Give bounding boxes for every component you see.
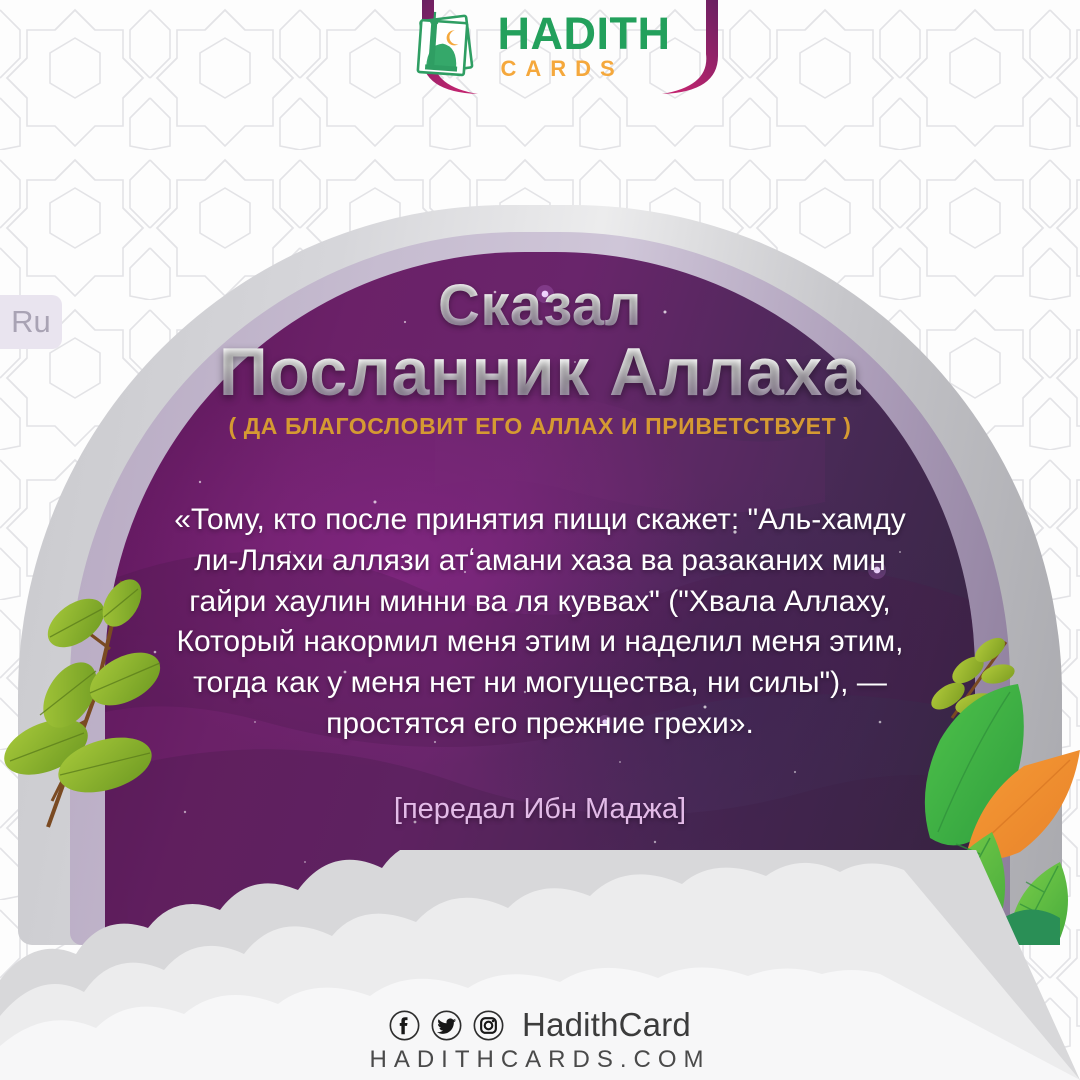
heading-salawat: ( ДА БЛАГОСЛОВИТ ЕГО АЛЛАХ И ПРИВЕТСТВУЕ… xyxy=(105,413,975,440)
twitter-icon[interactable] xyxy=(431,1010,462,1041)
heading-line-1: Сказал xyxy=(105,276,975,335)
mosque-photo-cards-icon xyxy=(410,6,488,84)
hadith-card: HADITH CARDS Ru xyxy=(0,0,1080,1080)
hadith-block: «Тому, кто после принятия пищи скажет: "… xyxy=(160,500,920,826)
heading-block: Сказал Посланник Аллаха ( ДА БЛАГОСЛОВИТ… xyxy=(105,276,975,440)
hadith-narrator: [передал Ибн Маджа] xyxy=(160,793,920,826)
footer-handle: HadithCard xyxy=(522,1006,691,1044)
footer-website: HADITHCARDS.COM xyxy=(369,1046,710,1074)
facebook-icon[interactable] xyxy=(389,1010,420,1041)
hadith-text: «Тому, кто после принятия пищи скажет: "… xyxy=(160,500,920,745)
logo-text-hadith: HADITH xyxy=(498,11,671,56)
language-badge-ru[interactable]: Ru xyxy=(0,295,62,349)
leaf-branch-icon xyxy=(0,575,185,835)
heading-line-2: Посланник Аллаха xyxy=(105,337,975,408)
instagram-icon[interactable] xyxy=(473,1010,504,1041)
logo-text-cards: CARDS xyxy=(501,58,671,80)
footer: HadithCard HADITHCARDS.COM xyxy=(0,1006,1080,1074)
footer-social-row: HadithCard xyxy=(389,1006,691,1044)
brand-logo: HADITH CARDS xyxy=(410,6,671,84)
